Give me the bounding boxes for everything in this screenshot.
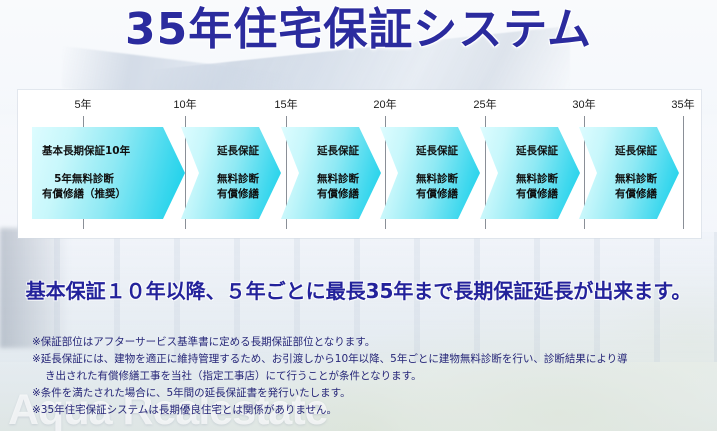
footnotes: ※保証部位はアフターサービス基準書に定める長期保証部位となります。 ※延長保証に… bbox=[32, 334, 700, 419]
segment-heading: 延長保証 bbox=[416, 144, 458, 159]
infographic-root: 35年住宅保証システム 5年10年15年20年25年30年35年 基本長期保証1… bbox=[0, 0, 717, 431]
warranty-segment-6: 延長保証無料診断有償修繕 bbox=[579, 127, 679, 219]
tick-label-5: 25年 bbox=[473, 96, 496, 112]
warranty-segment-2: 延長保証無料診断有償修繕 bbox=[181, 127, 281, 219]
segment-body: 無料診断有償修繕 bbox=[615, 172, 657, 202]
warranty-segment-3: 延長保証無料診断有償修繕 bbox=[281, 127, 381, 219]
warranty-segment-5: 延長保証無料診断有償修繕 bbox=[480, 127, 580, 219]
tick-label-4: 20年 bbox=[373, 96, 396, 112]
segment-body-line-2: 有償修繕 bbox=[217, 187, 259, 202]
footnote-line-4: ※条件を満たされた場合に、5年間の延長保証書を発行いたします。 bbox=[32, 385, 700, 402]
segment-heading: 延長保証 bbox=[217, 144, 259, 159]
segment-body-line-2: 有償修繕 bbox=[615, 187, 657, 202]
tick-label-6: 30年 bbox=[572, 96, 595, 112]
segment-body-line-1: 無料診断 bbox=[217, 172, 259, 187]
segment-body: 無料診断有償修繕 bbox=[516, 172, 558, 202]
headline-banner: 基本保証１０年以降、５年ごとに最長35年まで長期保証延長が出来ます。 bbox=[0, 275, 717, 304]
page-title: 35年住宅保証システム bbox=[0, 8, 717, 52]
warranty-segment-1: 基本長期保証10年5年無料診断有償修繕（推奨） bbox=[32, 127, 185, 219]
segment-body-line-1: 5年無料診断 bbox=[42, 172, 126, 187]
segment-body: 無料診断有償修繕 bbox=[217, 172, 259, 202]
footnote-line-1: ※保証部位はアフターサービス基準書に定める長期保証部位となります。 bbox=[32, 334, 700, 351]
footnote-line-3: き出された有償修繕工事を当社（指定工事店）にて行うことが条件となります。 bbox=[32, 368, 700, 385]
segment-body: 無料診断有償修繕 bbox=[416, 172, 458, 202]
segment-body-line-2: 有償修繕 bbox=[516, 187, 558, 202]
footnote-line-5: ※35年住宅保証システムは長期優良住宅とは関係がありません。 bbox=[32, 402, 700, 419]
segment-heading: 延長保証 bbox=[317, 144, 359, 159]
segment-body-line-2: 有償修繕（推奨） bbox=[42, 187, 126, 202]
segment-heading: 延長保証 bbox=[516, 144, 558, 159]
segment-body-line-2: 有償修繕 bbox=[416, 187, 458, 202]
footnote-line-2: ※延長保証には、建物を適正に維持管理するため、お引渡しから10年以降、5年ごとに… bbox=[32, 351, 700, 368]
segment-body-line-1: 無料診断 bbox=[317, 172, 359, 187]
timeline-chart-area: 5年10年15年20年25年30年35年 基本長期保証10年5年無料診断有償修繕… bbox=[18, 90, 701, 238]
timeline-panel: 5年10年15年20年25年30年35年 基本長期保証10年5年無料診断有償修繕… bbox=[18, 90, 701, 238]
tick-label-3: 15年 bbox=[274, 96, 297, 112]
segment-heading: 延長保証 bbox=[615, 144, 657, 159]
segment-body-line-1: 無料診断 bbox=[615, 172, 657, 187]
segment-body: 無料診断有償修繕 bbox=[317, 172, 359, 202]
tick-label-2: 10年 bbox=[173, 96, 196, 112]
segment-body-line-1: 無料診断 bbox=[416, 172, 458, 187]
warranty-segment-4: 延長保証無料診断有償修繕 bbox=[380, 127, 480, 219]
tick-label-7: 35年 bbox=[671, 96, 694, 112]
tick-line-7 bbox=[683, 116, 684, 229]
segment-body-line-1: 無料診断 bbox=[516, 172, 558, 187]
segment-body: 5年無料診断有償修繕（推奨） bbox=[42, 172, 126, 202]
segment-heading: 基本長期保証10年 bbox=[42, 144, 130, 159]
tick-label-1: 5年 bbox=[74, 96, 91, 112]
segment-body-line-2: 有償修繕 bbox=[317, 187, 359, 202]
